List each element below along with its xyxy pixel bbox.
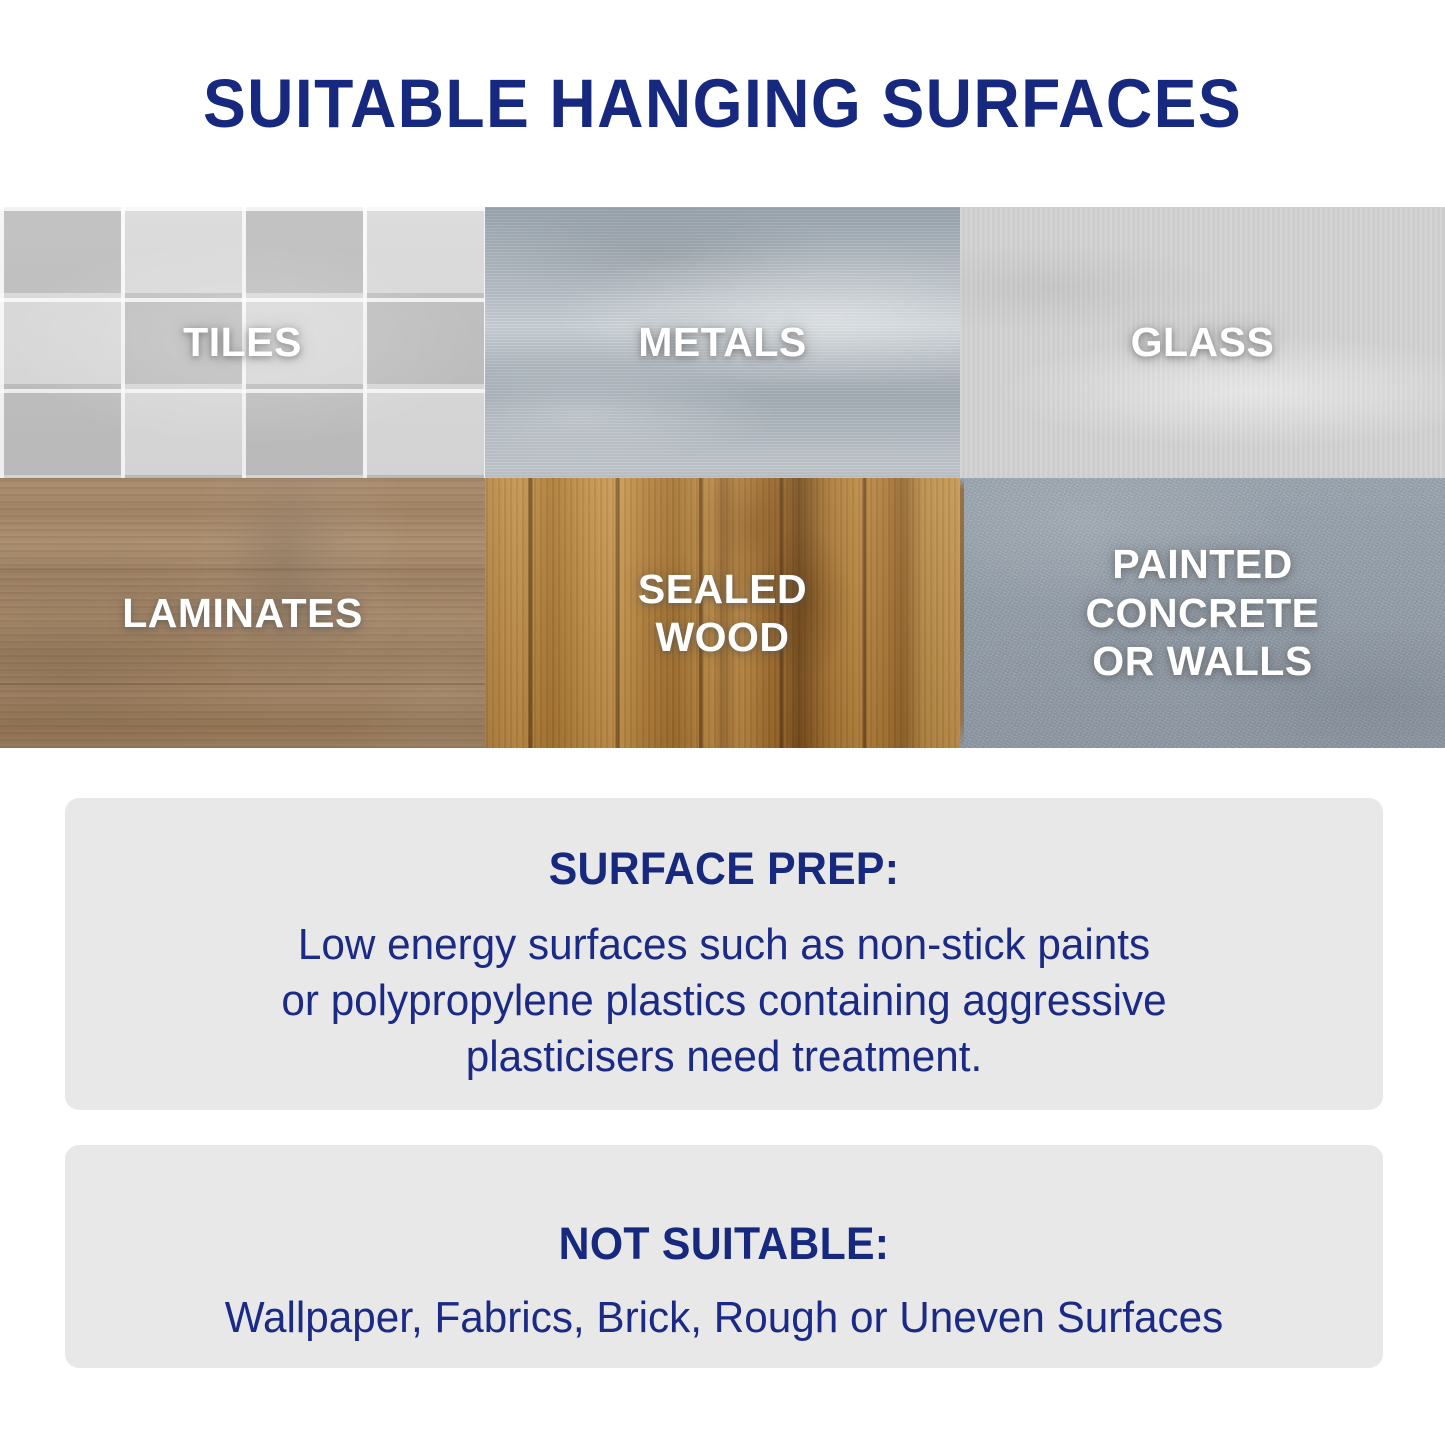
surface-panel-sealed-wood: SEALED WOOD	[485, 478, 960, 748]
surface-prep-heading: SURFACE PREP:	[98, 846, 1350, 891]
surface-label-glass: GLASS	[1131, 318, 1275, 366]
surface-label-tiles: TILES	[183, 318, 302, 366]
surface-prep-body: Low energy surfaces such as non-stick pa…	[91, 917, 1356, 1085]
surface-panel-laminates: LAMINATES	[0, 478, 485, 748]
infographic-page: SUITABLE HANGING SURFACES TILES METALS G…	[0, 0, 1445, 1445]
not-suitable-body: Wallpaper, Fabrics, Brick, Rough or Unev…	[91, 1290, 1356, 1346]
surface-label-painted-concrete: PAINTED CONCRETE OR WALLS	[1085, 540, 1319, 685]
not-suitable-box: NOT SUITABLE: Wallpaper, Fabrics, Brick,…	[65, 1145, 1383, 1368]
surface-panel-tiles: TILES	[0, 207, 485, 478]
surface-panel-metals: METALS	[485, 207, 960, 478]
surface-label-metals: METALS	[638, 318, 807, 366]
surface-panel-glass: GLASS	[960, 207, 1445, 478]
not-suitable-heading: NOT SUITABLE:	[98, 1221, 1350, 1266]
surface-label-sealed-wood: SEALED WOOD	[638, 565, 807, 662]
surface-label-laminates: LAMINATES	[122, 589, 363, 637]
surface-panel-painted-concrete: PAINTED CONCRETE OR WALLS	[960, 478, 1445, 748]
page-title: SUITABLE HANGING SURFACES	[51, 64, 1395, 144]
surface-grid: TILES METALS GLASS LAMINATES SEALED WOOD…	[0, 207, 1445, 748]
surface-prep-box: SURFACE PREP: Low energy surfaces such a…	[65, 798, 1383, 1110]
